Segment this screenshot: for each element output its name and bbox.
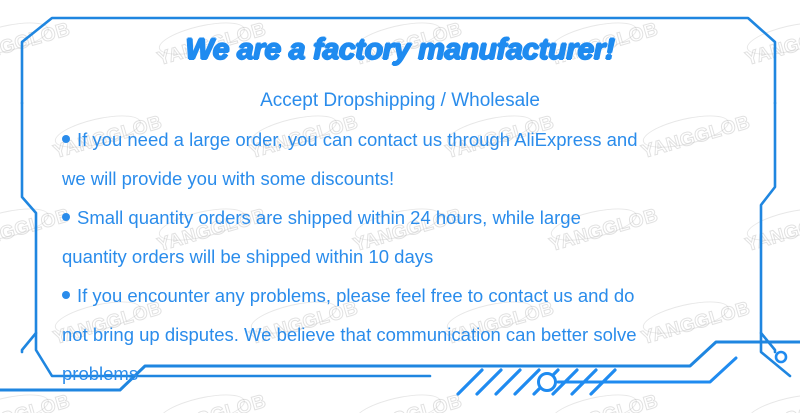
policy-line: not bring up disputes. We believe that c… [62,315,742,354]
policy-line-text: problems [62,363,138,384]
policy-line-text: quantity orders will be shipped within 1… [62,246,433,267]
policy-line-text: we will provide you with some discounts! [62,168,394,189]
bullet-dot-icon [62,135,70,143]
policy-line-text: Small quantity orders are shipped within… [77,207,581,228]
policy-line-text: If you encounter any problems, please fe… [77,285,634,306]
policy-line: quantity orders will be shipped within 1… [62,237,742,276]
promo-banner: YANGGLOBYANGGLOBYANGGLOBYANGGLOBYANGGLOB… [0,0,800,413]
policy-line-text: not bring up disputes. We believe that c… [62,324,637,345]
bullet-dot-icon [62,291,70,299]
bullet-dot-icon [62,213,70,221]
page-title: We are a factory manufacturer! [0,33,800,67]
policy-line: If you need a large order, you can conta… [62,120,742,159]
banner-subtitle: Accept Dropshipping / Wholesale [0,90,800,112]
policy-line: we will provide you with some discounts! [62,159,742,198]
policy-line-text: If you need a large order, you can conta… [77,129,638,150]
banner-content: We are a factory manufacturer! Accept Dr… [0,0,800,413]
policy-line: problems [62,354,742,393]
policy-line: Small quantity orders are shipped within… [62,198,742,237]
policy-list: If you need a large order, you can conta… [62,120,742,393]
policy-line: If you encounter any problems, please fe… [62,276,742,315]
